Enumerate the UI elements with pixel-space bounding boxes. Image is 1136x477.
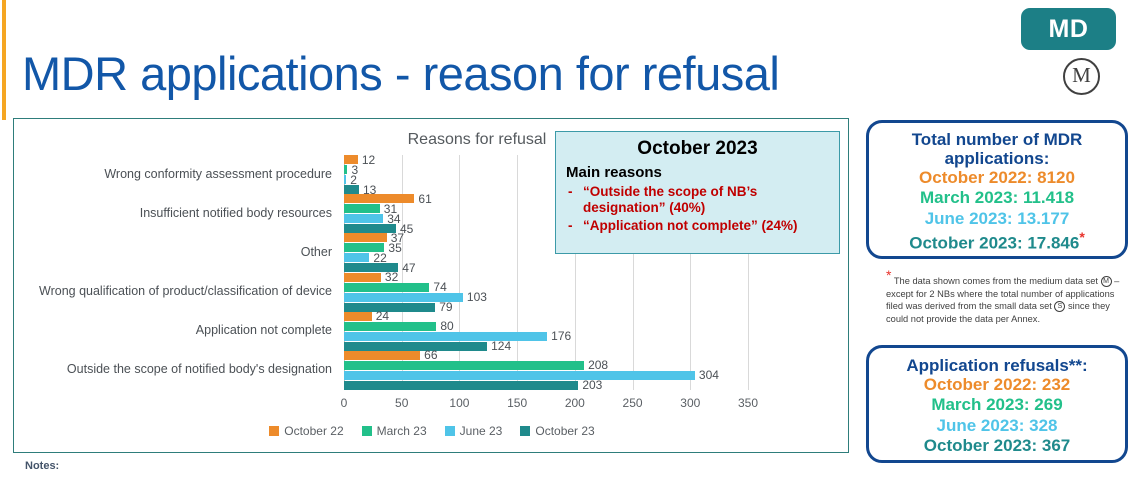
info-box-row: March 2023: 269 <box>869 395 1125 415</box>
chart-bar[interactable] <box>344 361 584 370</box>
chart-x-tick-label: 300 <box>680 396 700 410</box>
chart-x-tick-label: 250 <box>623 396 643 410</box>
chart-bar[interactable] <box>344 253 369 262</box>
callout-subtitle: Main reasons <box>566 164 829 181</box>
chart-x-tick-label: 50 <box>395 396 408 410</box>
chart-bar[interactable] <box>344 381 578 390</box>
chart-bar[interactable] <box>344 233 387 242</box>
chart-legend: October 22March 23June 23October 23 <box>14 424 850 438</box>
footnote-part1: The data shown comes from the medium dat… <box>891 276 1100 286</box>
info-box-row-label: June 2023: 328 <box>937 416 1058 435</box>
chart-bar[interactable] <box>344 351 420 360</box>
chart-x-tick-label: 150 <box>507 396 527 410</box>
total-box-heading-line2: applications: <box>869 149 1125 168</box>
chart-bar-row: 79 <box>344 303 748 312</box>
circled-m-logo-label: M <box>1072 63 1091 88</box>
callout-title: October 2023 <box>566 138 829 160</box>
info-box-row-label: October 2022: 8120 <box>919 168 1075 187</box>
callout-bullet-dash: - <box>568 218 573 234</box>
chart-legend-label: October 23 <box>535 424 594 438</box>
info-box-row-label: October 2022: 232 <box>924 375 1070 394</box>
callout-item-text: “Application not complete” (24%) <box>583 218 798 233</box>
chart-bar-row: 80 <box>344 322 748 331</box>
chart-bar[interactable] <box>344 332 547 341</box>
october-2023-callout: October 2023 Main reasons -“Outside the … <box>555 131 840 254</box>
chart-bar-group: 2480176124 <box>344 312 748 352</box>
chart-category-label: Outside the scope of notified body's des… <box>67 362 332 376</box>
circled-m-logo-icon: M <box>1063 58 1100 95</box>
chart-category-labels: Wrong conformity assessment procedureIns… <box>24 155 340 418</box>
chart-legend-label: March 23 <box>377 424 427 438</box>
md-badge: MD <box>1021 8 1116 50</box>
chart-x-tick-label: 100 <box>449 396 469 410</box>
info-box-row: October 2022: 232 <box>869 375 1125 395</box>
info-box-row-label: March 2023: 269 <box>931 395 1062 414</box>
info-box-row-label: March 2023: 11.418 <box>920 188 1074 207</box>
chart-bar-row: 32 <box>344 273 748 282</box>
chart-bar[interactable] <box>344 322 436 331</box>
callout-list-item: -“Outside the scope of NB’s designation”… <box>566 184 829 217</box>
notes-label: Notes: <box>25 460 59 472</box>
info-box-row-marker: * <box>1079 229 1084 245</box>
chart-category-label: Wrong conformity assessment procedure <box>104 167 332 181</box>
application-refusals-box: Application refusals**: October 2022: 23… <box>866 345 1128 463</box>
refusals-box-rows: October 2022: 232March 2023: 269June 202… <box>869 375 1125 457</box>
chart-legend-swatch <box>362 426 372 436</box>
chart-legend-label: October 22 <box>284 424 343 438</box>
info-box-row: October 2023: 367 <box>869 436 1125 456</box>
chart-bar[interactable] <box>344 214 383 223</box>
chart-bar-row: 24 <box>344 312 748 321</box>
chart-bar[interactable] <box>344 312 372 321</box>
info-box-row: October 2022: 8120 <box>869 168 1125 188</box>
small-dataset-icon: S <box>1054 301 1065 312</box>
chart-bar[interactable] <box>344 185 359 194</box>
chart-bar-group: 327410379 <box>344 273 748 313</box>
chart-legend-swatch <box>445 426 455 436</box>
chart-bar-row: 203 <box>344 381 748 390</box>
chart-legend-item[interactable]: March 23 <box>362 424 427 438</box>
callout-reason-list: -“Outside the scope of NB’s designation”… <box>566 184 829 234</box>
chart-bar-row: 103 <box>344 293 748 302</box>
chart-bar-group: 66208304203 <box>344 351 748 391</box>
chart-x-tick-label: 350 <box>738 396 758 410</box>
chart-legend-item[interactable]: October 22 <box>269 424 343 438</box>
info-box-row: June 2023: 328 <box>869 416 1125 436</box>
chart-bar[interactable] <box>344 204 380 213</box>
chart-bar-row: 304 <box>344 371 748 380</box>
chart-bar-row: 176 <box>344 332 748 341</box>
chart-bar[interactable] <box>344 342 487 351</box>
chart-category-label: Application not complete <box>196 323 332 337</box>
chart-legend-swatch <box>520 426 530 436</box>
chart-legend-item[interactable]: October 23 <box>520 424 594 438</box>
chart-category-label: Insufficient notified body resources <box>140 206 332 220</box>
chart-bar[interactable] <box>344 283 429 292</box>
info-box-row: March 2023: 11.418 <box>869 188 1125 208</box>
chart-bar[interactable] <box>344 273 381 282</box>
md-badge-label: MD <box>1049 15 1089 44</box>
chart-category-label: Other <box>301 245 332 259</box>
footnote-text: * The data shown comes from the medium d… <box>886 266 1124 326</box>
page-title: MDR applications - reason for refusal <box>22 46 779 101</box>
callout-bullet-dash: - <box>568 184 573 200</box>
info-box-row: October 2023: 17.846* <box>869 229 1125 254</box>
chart-x-tick-label: 200 <box>565 396 585 410</box>
chart-legend-label: June 23 <box>460 424 503 438</box>
chart-bar-row: 124 <box>344 342 748 351</box>
info-box-row: June 2023: 13.177 <box>869 209 1125 229</box>
chart-bar[interactable] <box>344 303 435 312</box>
total-box-rows: October 2022: 8120March 2023: 11.418June… <box>869 168 1125 254</box>
info-box-row-label: October 2023: 367 <box>924 436 1070 455</box>
slide-root: MD M MDR applications - reason for refus… <box>0 0 1136 477</box>
chart-x-tick-label: 0 <box>341 396 348 410</box>
chart-bar-row: 74 <box>344 283 748 292</box>
callout-list-item: -“Application not complete” (24%) <box>566 218 829 234</box>
chart-bar-row: 47 <box>344 263 748 272</box>
chart-bar[interactable] <box>344 371 695 380</box>
total-applications-box: Total number of MDR applications: Octobe… <box>866 120 1128 259</box>
chart-bar-row: 208 <box>344 361 748 370</box>
total-box-heading-line1: Total number of MDR <box>869 130 1125 149</box>
info-box-row-label: October 2023: 17.846 <box>909 234 1079 253</box>
refusals-box-heading: Application refusals**: <box>869 356 1125 375</box>
medium-dataset-icon: M <box>1101 276 1112 287</box>
info-box-row-label: June 2023: 13.177 <box>925 209 1070 228</box>
callout-item-text: “Outside the scope of NB’s designation” … <box>583 184 757 215</box>
chart-bar-value: 203 <box>578 378 602 392</box>
chart-legend-item[interactable]: June 23 <box>445 424 503 438</box>
chart-bar-row: 66 <box>344 351 748 360</box>
left-accent-bar <box>2 0 6 120</box>
chart-legend-swatch <box>269 426 279 436</box>
chart-category-label: Wrong qualification of product/classific… <box>39 284 332 298</box>
